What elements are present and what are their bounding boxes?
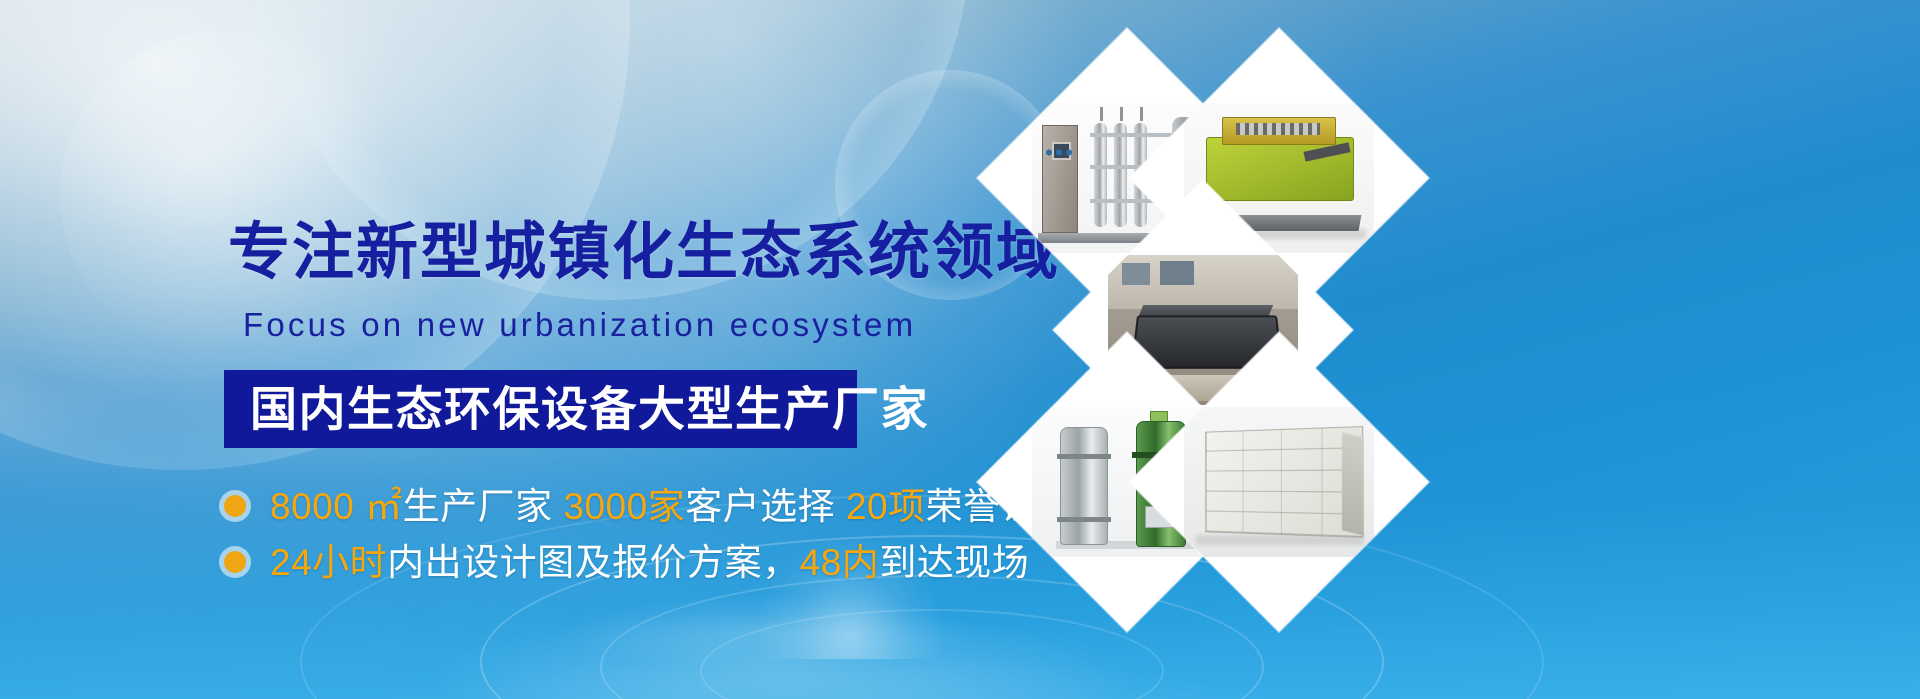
banner-copy: 专注新型城镇化生态系统领域 Focus on new urbanization …: [0, 0, 1000, 699]
bullet-dot-icon: [224, 495, 246, 517]
aac-block-stack-photo: [1184, 407, 1374, 557]
product-diamond-grid: [900, 30, 1920, 570]
bullet-dot-icon: [224, 551, 246, 573]
highlight-box: 国内生态环保设备大型生产厂家: [224, 370, 857, 448]
highlight-box-text: 国内生态环保设备大型生产厂家: [250, 386, 929, 433]
promo-banner: 专注新型城镇化生态系统领域 Focus on new urbanization …: [0, 0, 1920, 699]
banner-subheadline: Focus on new urbanization ecosystem: [243, 306, 916, 344]
